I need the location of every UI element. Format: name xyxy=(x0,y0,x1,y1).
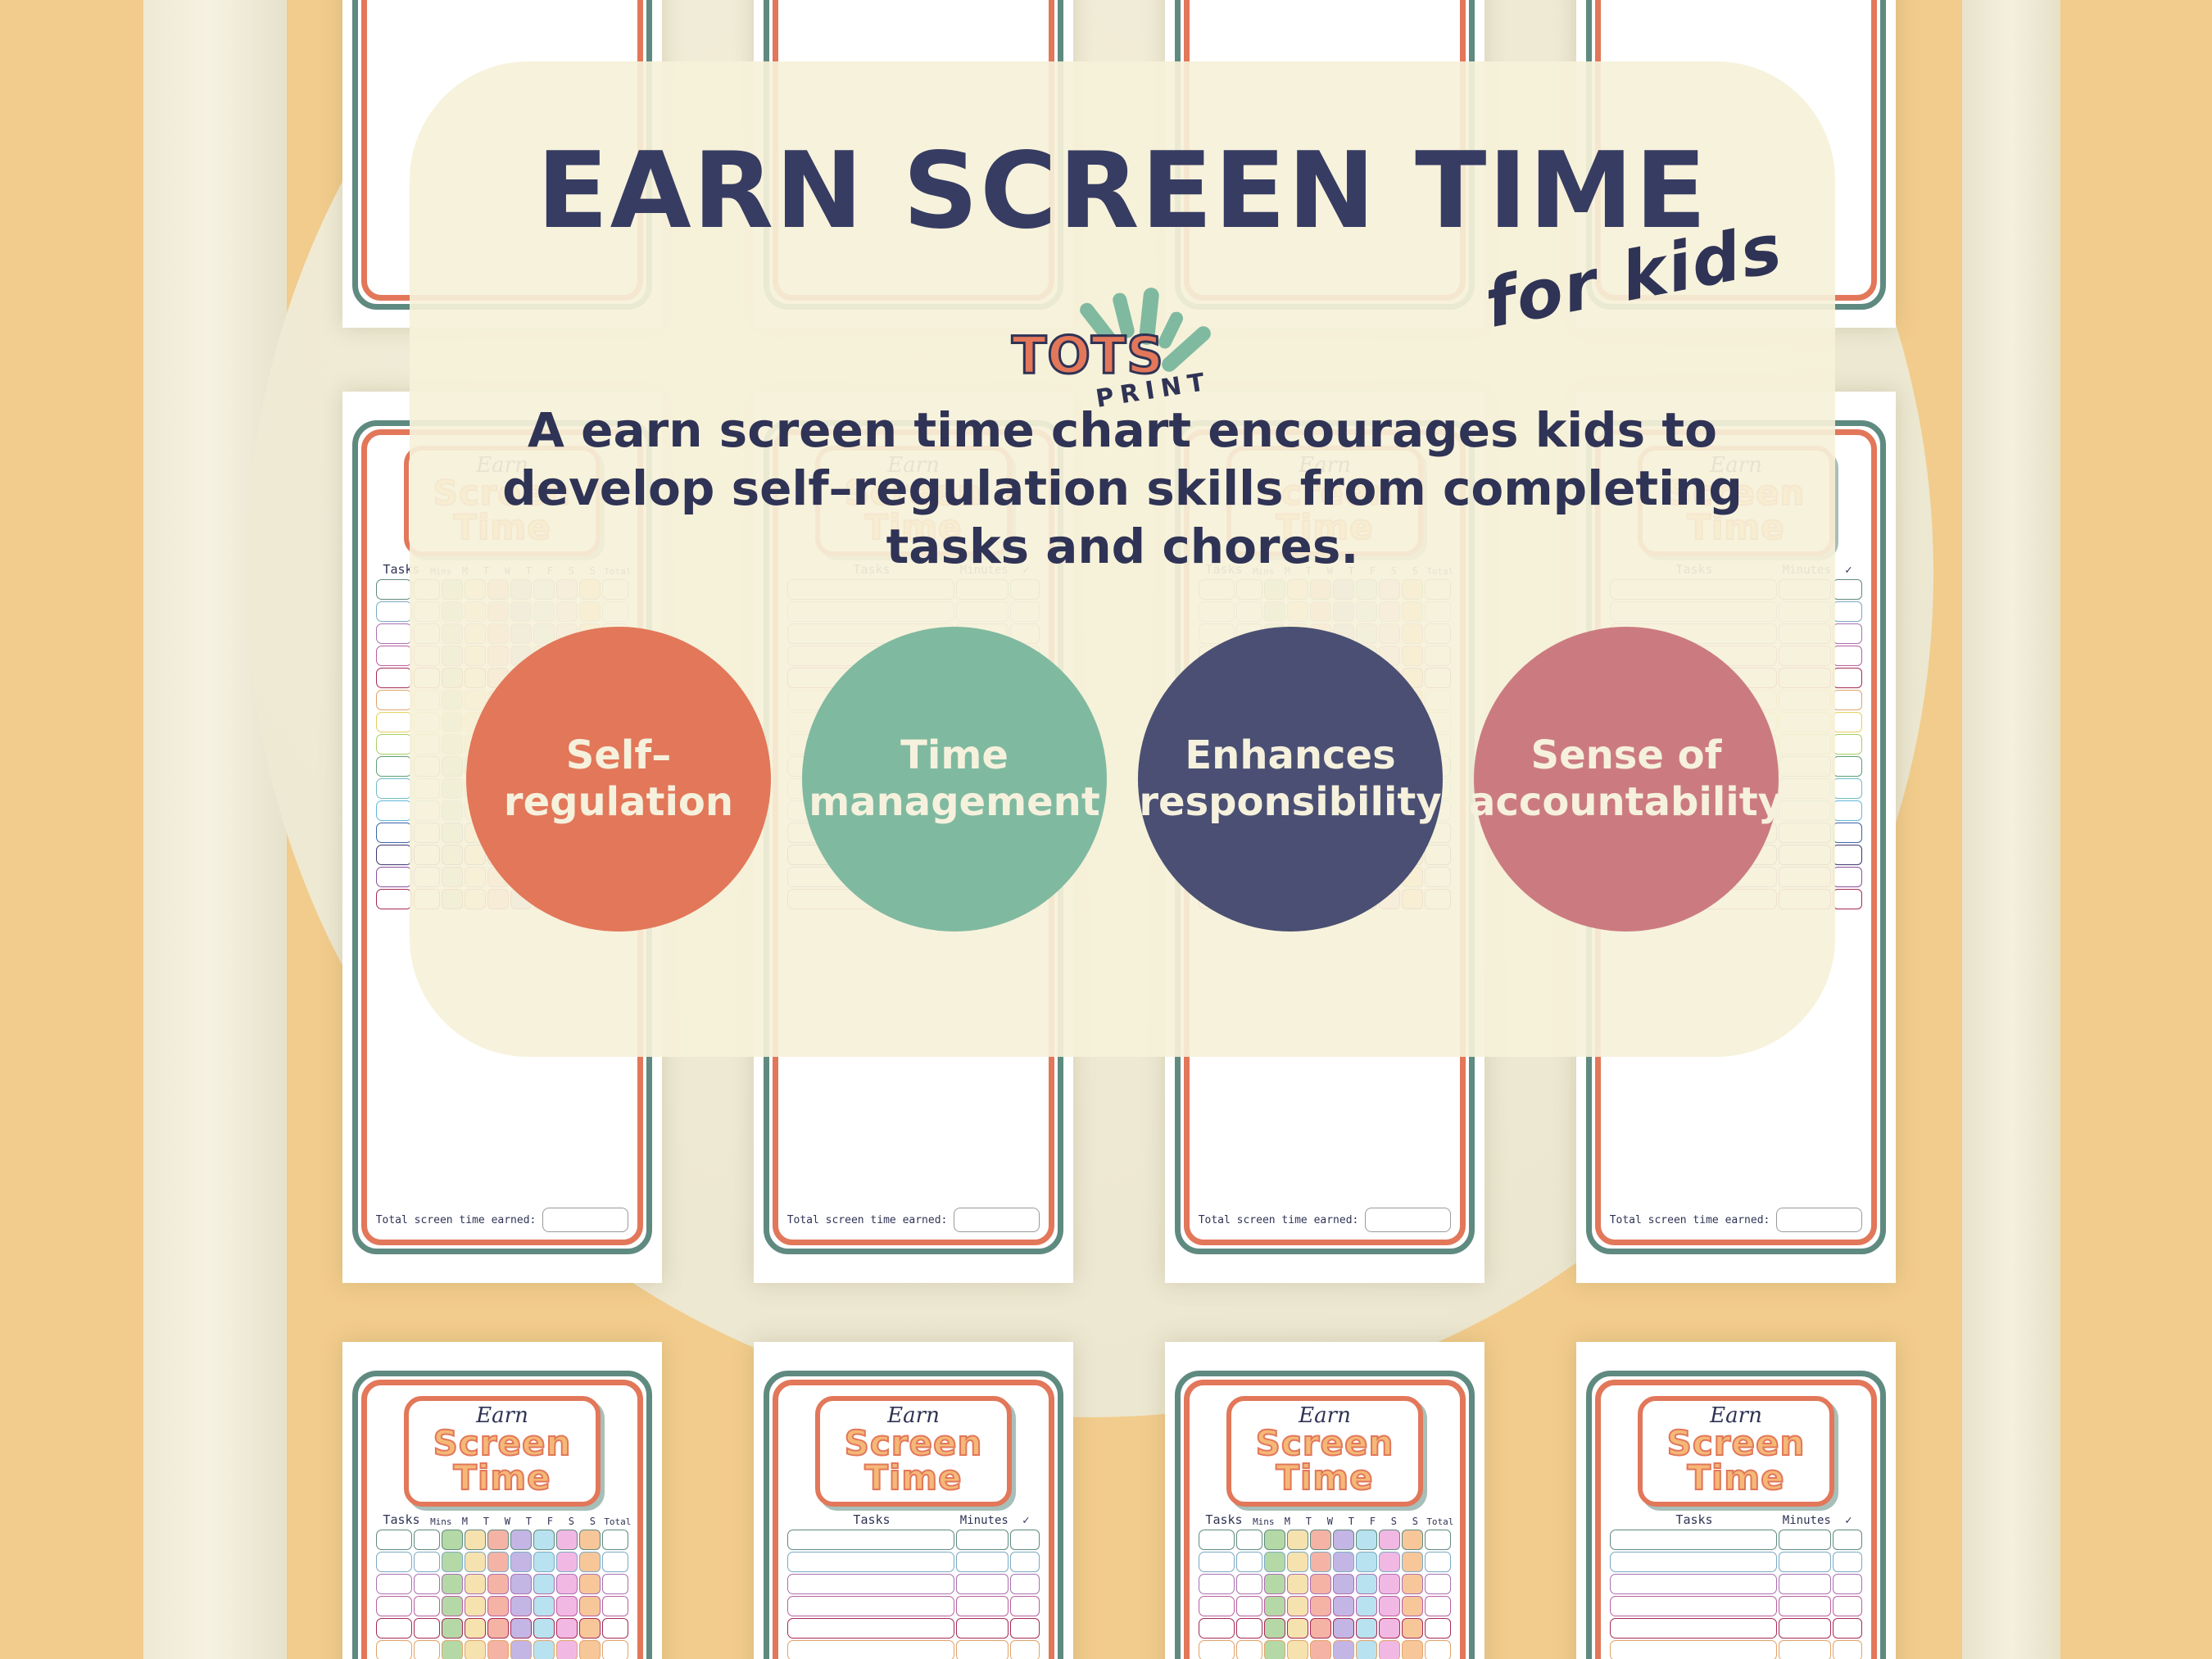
day-check-cell[interactable] xyxy=(465,1596,486,1616)
printable-column-headers: TasksMinsMTWTFSSTotal xyxy=(376,1512,629,1527)
minutes-input-box[interactable] xyxy=(956,1640,1009,1659)
column-header: S xyxy=(1405,1516,1425,1527)
printable-column-headers: TasksMinutes✓ xyxy=(787,1512,1040,1527)
minutes-input-box[interactable] xyxy=(1779,1530,1831,1550)
checkmark-box[interactable] xyxy=(1833,1552,1862,1572)
day-check-cell[interactable] xyxy=(1264,1574,1285,1594)
task-input-box[interactable] xyxy=(376,778,413,799)
task-input-box[interactable] xyxy=(1199,1596,1235,1616)
minutes-input-box[interactable] xyxy=(1236,1552,1262,1572)
printable-column-headers: TasksMinutes✓ xyxy=(1610,1512,1863,1527)
row-total-box[interactable] xyxy=(602,1640,628,1659)
day-check-cell[interactable] xyxy=(1379,1574,1400,1594)
day-check-cell[interactable] xyxy=(1333,1618,1354,1639)
day-check-cell[interactable] xyxy=(1333,1552,1354,1572)
day-check-cell[interactable] xyxy=(1287,1552,1308,1572)
minutes-input-box[interactable] xyxy=(956,1530,1009,1550)
task-input-box[interactable] xyxy=(376,1552,413,1572)
day-check-cell[interactable] xyxy=(579,1618,601,1639)
printable-title-bubble: Screen Time xyxy=(823,1426,1004,1495)
printable-total-row: Total screen time earned: xyxy=(1199,1203,1452,1232)
column-header: Total xyxy=(1426,1516,1451,1527)
checkmark-box[interactable] xyxy=(1833,1530,1862,1550)
day-check-cell[interactable] xyxy=(1310,1574,1331,1594)
day-check-cell[interactable] xyxy=(1356,1530,1377,1550)
checkmark-box[interactable] xyxy=(1833,668,1862,688)
day-check-cell[interactable] xyxy=(510,1640,532,1659)
minutes-input-box[interactable] xyxy=(414,1640,440,1659)
day-check-cell[interactable] xyxy=(487,1640,509,1659)
printable-title-bubble: Screen Time xyxy=(412,1426,593,1495)
row-total-box[interactable] xyxy=(1425,1574,1451,1594)
day-check-cell[interactable] xyxy=(579,1640,601,1659)
printable-title-bubble: Screen Time xyxy=(1235,1426,1416,1495)
column-header: M xyxy=(455,1516,474,1527)
minutes-input-box[interactable] xyxy=(956,1596,1009,1616)
benefit-bubble: Self– regulation xyxy=(466,627,771,931)
task-input-box[interactable] xyxy=(1610,1574,1778,1594)
day-check-cell[interactable] xyxy=(1287,1618,1308,1639)
minutes-input-box[interactable] xyxy=(1236,1640,1262,1659)
task-input-box[interactable] xyxy=(376,668,413,688)
checkmark-box[interactable] xyxy=(1833,845,1862,865)
printable-task-row xyxy=(376,1574,629,1594)
day-check-cell[interactable] xyxy=(533,1530,555,1550)
checkmark-box[interactable] xyxy=(1010,1618,1040,1639)
total-label: Total screen time earned: xyxy=(1610,1214,1770,1226)
minutes-input-box[interactable] xyxy=(956,1618,1009,1639)
poster-canvas: EarnScreen TimeTasksMinsMTWTFSSTotalTota… xyxy=(0,0,2212,1659)
task-input-box[interactable] xyxy=(376,579,413,600)
printable-task-row xyxy=(376,1618,629,1639)
column-header: Total xyxy=(604,1516,628,1527)
day-check-cell[interactable] xyxy=(1379,1618,1400,1639)
benefit-bubble: Enhances responsibility xyxy=(1138,627,1443,931)
checkmark-box[interactable] xyxy=(1833,1640,1862,1659)
column-header: T xyxy=(476,1516,496,1527)
day-check-cell[interactable] xyxy=(1287,1640,1308,1659)
day-check-cell[interactable] xyxy=(1264,1596,1285,1616)
task-input-box[interactable] xyxy=(376,1618,413,1639)
minutes-input-box[interactable] xyxy=(1236,1530,1262,1550)
row-total-box[interactable] xyxy=(602,1552,628,1572)
day-check-cell[interactable] xyxy=(465,1618,486,1639)
printable-task-row xyxy=(787,1574,1040,1594)
column-header: Mins xyxy=(428,1516,453,1527)
row-total-box[interactable] xyxy=(602,1596,628,1616)
total-label: Total screen time earned: xyxy=(787,1214,948,1226)
column-header: W xyxy=(1320,1516,1339,1527)
printable-title-plate: EarnScreen Time xyxy=(404,1396,601,1507)
column-header: ✓ xyxy=(1834,564,1862,577)
day-check-cell[interactable] xyxy=(1333,1574,1354,1594)
printable-sheet: EarnScreen TimeTasksMinsMTWTFSSTotalTota… xyxy=(1165,1342,1484,1659)
day-check-cell[interactable] xyxy=(510,1530,532,1550)
benefit-bubble: Time management xyxy=(802,627,1107,931)
day-check-cell[interactable] xyxy=(1402,1596,1423,1616)
checkmark-box[interactable] xyxy=(1833,867,1862,887)
printable-task-row xyxy=(787,1618,1040,1639)
task-input-box[interactable] xyxy=(1199,1618,1235,1639)
day-check-cell[interactable] xyxy=(510,1552,532,1572)
logo-tots-text: TOTS xyxy=(1012,325,1164,385)
task-input-box[interactable] xyxy=(787,1552,955,1572)
day-check-cell[interactable] xyxy=(1402,1552,1423,1572)
printable-sheet-frame: EarnScreen TimeTasksMinsMTWTFSSTotalTota… xyxy=(1175,1371,1475,1659)
day-check-cell[interactable] xyxy=(487,1618,509,1639)
task-input-box[interactable] xyxy=(787,1618,955,1639)
day-check-cell[interactable] xyxy=(579,1530,601,1550)
checkmark-box[interactable] xyxy=(1833,579,1862,600)
day-check-cell[interactable] xyxy=(1356,1574,1377,1594)
day-check-cell[interactable] xyxy=(487,1596,509,1616)
column-header: S xyxy=(582,1516,602,1527)
column-header: Tasks xyxy=(1199,1512,1250,1527)
task-input-box[interactable] xyxy=(1199,1530,1235,1550)
day-check-cell[interactable] xyxy=(442,1596,463,1616)
row-total-box[interactable] xyxy=(1425,1596,1451,1616)
checkmark-box[interactable] xyxy=(1833,756,1862,777)
day-check-cell[interactable] xyxy=(579,1552,601,1572)
task-input-box[interactable] xyxy=(376,823,413,843)
column-header: W xyxy=(497,1516,517,1527)
day-check-cell[interactable] xyxy=(442,1530,463,1550)
column-header: S xyxy=(561,1516,581,1527)
printable-title-plate: EarnScreen Time xyxy=(815,1396,1013,1507)
column-header: T xyxy=(1341,1516,1361,1527)
day-check-cell[interactable] xyxy=(1264,1530,1285,1550)
checkmark-box[interactable] xyxy=(1833,1574,1862,1594)
day-check-cell[interactable] xyxy=(1264,1618,1285,1639)
task-input-box[interactable] xyxy=(376,690,413,710)
day-check-cell[interactable] xyxy=(1356,1618,1377,1639)
printable-sheet: EarnScreen TimeTasksMinutes✓Total screen… xyxy=(754,1342,1073,1659)
day-check-cell[interactable] xyxy=(442,1552,463,1572)
day-check-cell[interactable] xyxy=(533,1640,555,1659)
day-check-cell[interactable] xyxy=(1333,1530,1354,1550)
day-check-cell[interactable] xyxy=(533,1596,555,1616)
day-check-cell[interactable] xyxy=(1310,1618,1331,1639)
day-check-cell[interactable] xyxy=(1310,1596,1331,1616)
total-input-box[interactable] xyxy=(542,1208,628,1232)
checkmark-box[interactable] xyxy=(1010,1596,1040,1616)
minutes-input-box[interactable] xyxy=(956,1552,1009,1572)
task-input-box[interactable] xyxy=(376,623,413,644)
column-header: ✓ xyxy=(1834,1514,1862,1527)
day-check-cell[interactable] xyxy=(1379,1596,1400,1616)
printable-task-row xyxy=(1610,1530,1863,1550)
day-check-cell[interactable] xyxy=(1402,1618,1423,1639)
task-input-box[interactable] xyxy=(376,756,413,777)
checkmark-box[interactable] xyxy=(1833,889,1862,909)
checkmark-box[interactable] xyxy=(1833,690,1862,710)
minutes-input-box[interactable] xyxy=(1779,1552,1831,1572)
day-check-cell[interactable] xyxy=(1310,1552,1331,1572)
checkmark-box[interactable] xyxy=(1833,1618,1862,1639)
checkmark-box[interactable] xyxy=(1833,601,1862,622)
printable-total-row: Total screen time earned: xyxy=(376,1203,629,1232)
printable-task-row xyxy=(787,1552,1040,1572)
task-input-box[interactable] xyxy=(1610,1596,1778,1616)
task-input-box[interactable] xyxy=(1610,1640,1778,1659)
day-check-cell[interactable] xyxy=(1379,1552,1400,1572)
total-label: Total screen time earned: xyxy=(1199,1214,1359,1226)
checkmark-box[interactable] xyxy=(1010,1574,1040,1594)
day-check-cell[interactable] xyxy=(1310,1640,1331,1659)
day-check-cell[interactable] xyxy=(1264,1640,1285,1659)
checkmark-box[interactable] xyxy=(1833,623,1862,644)
column-header: Minutes xyxy=(959,1514,1009,1527)
printable-sheet: EarnScreen TimeTasksMinsMTWTFSSTotalTota… xyxy=(342,1342,662,1659)
day-check-cell[interactable] xyxy=(579,1596,601,1616)
column-header: Tasks xyxy=(787,1512,957,1527)
column-header: Minutes xyxy=(1781,1514,1832,1527)
task-input-box[interactable] xyxy=(376,800,413,821)
day-check-cell[interactable] xyxy=(1287,1596,1308,1616)
task-input-box[interactable] xyxy=(376,646,413,666)
minutes-input-box[interactable] xyxy=(414,1530,440,1550)
task-input-box[interactable] xyxy=(1199,1552,1235,1572)
task-input-box[interactable] xyxy=(1199,1640,1235,1659)
task-input-box[interactable] xyxy=(376,712,413,732)
task-input-box[interactable] xyxy=(376,601,413,622)
printable-sheet-frame: EarnScreen TimeTasksMinsMTWTFSSTotalTota… xyxy=(352,1371,653,1659)
background-band-right xyxy=(1962,0,2060,1659)
checkmark-box[interactable] xyxy=(1833,800,1862,821)
task-input-box[interactable] xyxy=(787,1530,955,1550)
checkmark-box[interactable] xyxy=(1833,823,1862,843)
column-header: Tasks xyxy=(376,1512,428,1527)
day-check-cell[interactable] xyxy=(465,1640,486,1659)
printable-sheet-frame: EarnScreen TimeTasksMinutes✓Total screen… xyxy=(1586,1371,1887,1659)
brand-logo: TOTS PRINT xyxy=(1004,291,1241,414)
minutes-input-box[interactable] xyxy=(1236,1618,1262,1639)
benefit-bubbles: Self– regulation Time management Enhance… xyxy=(410,627,1835,931)
day-check-cell[interactable] xyxy=(487,1552,509,1572)
day-check-cell[interactable] xyxy=(442,1618,463,1639)
minutes-input-box[interactable] xyxy=(414,1574,440,1594)
total-label: Total screen time earned: xyxy=(376,1214,537,1226)
task-input-box[interactable] xyxy=(787,1574,955,1594)
day-check-cell[interactable] xyxy=(442,1574,463,1594)
day-check-cell[interactable] xyxy=(1310,1530,1331,1550)
printable-total-row: Total screen time earned: xyxy=(1610,1203,1863,1232)
checkmark-box[interactable] xyxy=(1010,1640,1040,1659)
day-check-cell[interactable] xyxy=(1356,1596,1377,1616)
day-check-cell[interactable] xyxy=(442,1640,463,1659)
column-header: ✓ xyxy=(1012,1514,1040,1527)
day-check-cell[interactable] xyxy=(556,1574,578,1594)
minutes-input-box[interactable] xyxy=(1779,1574,1831,1594)
printable-sheet-frame: EarnScreen TimeTasksMinutes✓Total screen… xyxy=(764,1371,1064,1659)
task-input-box[interactable] xyxy=(376,889,413,909)
day-check-cell[interactable] xyxy=(556,1530,578,1550)
printable-task-row xyxy=(1199,1574,1452,1594)
checkmark-box[interactable] xyxy=(1833,734,1862,755)
printable-column-headers: TasksMinsMTWTFSSTotal xyxy=(1199,1512,1452,1527)
column-header: S xyxy=(1384,1516,1403,1527)
content-overlay-panel: EARN SCREEN TIME for kids TOTS PRINT A e… xyxy=(410,61,1835,1057)
day-check-cell[interactable] xyxy=(1333,1596,1354,1616)
column-header: F xyxy=(540,1516,560,1527)
row-total-box[interactable] xyxy=(602,1574,628,1594)
minutes-input-box[interactable] xyxy=(1236,1574,1262,1594)
checkmark-box[interactable] xyxy=(1010,1530,1040,1550)
column-header: Tasks xyxy=(1610,1512,1779,1527)
printable-task-row xyxy=(1199,1596,1452,1616)
background-band-left xyxy=(143,0,287,1659)
task-input-box[interactable] xyxy=(376,1574,413,1594)
printable-task-row xyxy=(1610,1640,1863,1659)
task-input-box[interactable] xyxy=(1199,1574,1235,1594)
minutes-input-box[interactable] xyxy=(1236,1596,1262,1616)
printable-title-plate: EarnScreen Time xyxy=(1638,1396,1835,1507)
page-title: EARN SCREEN TIME xyxy=(410,139,1835,244)
row-total-box[interactable] xyxy=(1425,1552,1451,1572)
column-header: T xyxy=(1299,1516,1318,1527)
day-check-cell[interactable] xyxy=(533,1552,555,1572)
minutes-input-box[interactable] xyxy=(414,1596,440,1616)
total-input-box[interactable] xyxy=(954,1208,1040,1232)
day-check-cell[interactable] xyxy=(1356,1640,1377,1659)
task-input-box[interactable] xyxy=(376,1640,413,1659)
printable-task-row xyxy=(1610,1552,1863,1572)
printable-task-row xyxy=(787,1640,1040,1659)
checkmark-box[interactable] xyxy=(1833,778,1862,799)
minutes-input-box[interactable] xyxy=(956,1574,1009,1594)
checkmark-box[interactable] xyxy=(1833,646,1862,666)
day-check-cell[interactable] xyxy=(465,1574,486,1594)
printable-task-row xyxy=(787,1530,1040,1550)
task-input-box[interactable] xyxy=(1610,1618,1778,1639)
day-check-cell[interactable] xyxy=(1402,1640,1423,1659)
task-input-box[interactable] xyxy=(376,1596,413,1616)
minutes-input-box[interactable] xyxy=(1779,1640,1831,1659)
day-check-cell[interactable] xyxy=(487,1530,509,1550)
printable-task-row xyxy=(1199,1640,1452,1659)
description-text: A earn screen time chart encourages kids… xyxy=(459,401,1786,575)
row-total-box[interactable] xyxy=(1425,1618,1451,1639)
printable-task-row xyxy=(1610,1618,1863,1639)
task-input-box[interactable] xyxy=(787,1640,955,1659)
printable-task-row xyxy=(1610,1596,1863,1616)
day-check-cell[interactable] xyxy=(510,1596,532,1616)
printable-task-row xyxy=(1199,1530,1452,1550)
printable-title-bubble: Screen Time xyxy=(1646,1426,1827,1495)
benefit-bubble: Sense of accountability xyxy=(1474,627,1779,931)
printable-sheet: EarnScreen TimeTasksMinutes✓Total screen… xyxy=(1576,1342,1896,1659)
printable-task-row xyxy=(376,1596,629,1616)
column-header: F xyxy=(1362,1516,1382,1527)
task-input-box[interactable] xyxy=(1610,1552,1778,1572)
checkmark-box[interactable] xyxy=(1833,1596,1862,1616)
day-check-cell[interactable] xyxy=(510,1574,532,1594)
printable-task-row xyxy=(376,1552,629,1572)
total-input-box[interactable] xyxy=(1776,1208,1862,1232)
day-check-cell[interactable] xyxy=(510,1618,532,1639)
row-total-box[interactable] xyxy=(1425,1640,1451,1659)
printable-task-row xyxy=(376,1640,629,1659)
day-check-cell[interactable] xyxy=(465,1552,486,1572)
day-check-cell[interactable] xyxy=(1379,1640,1400,1659)
task-input-box[interactable] xyxy=(376,845,413,865)
day-check-cell[interactable] xyxy=(1287,1574,1308,1594)
day-check-cell[interactable] xyxy=(533,1574,555,1594)
day-check-cell[interactable] xyxy=(556,1618,578,1639)
minutes-input-box[interactable] xyxy=(1779,1596,1831,1616)
minutes-input-box[interactable] xyxy=(1779,1618,1831,1639)
day-check-cell[interactable] xyxy=(1402,1530,1423,1550)
day-check-cell[interactable] xyxy=(556,1596,578,1616)
column-header: M xyxy=(1277,1516,1297,1527)
day-check-cell[interactable] xyxy=(1379,1530,1400,1550)
day-check-cell[interactable] xyxy=(1333,1640,1354,1659)
day-check-cell[interactable] xyxy=(556,1552,578,1572)
row-total-box[interactable] xyxy=(602,1530,628,1550)
printable-task-row xyxy=(787,1596,1040,1616)
total-input-box[interactable] xyxy=(1365,1208,1451,1232)
task-input-box[interactable] xyxy=(376,867,413,887)
day-check-cell[interactable] xyxy=(533,1618,555,1639)
minutes-input-box[interactable] xyxy=(414,1618,440,1639)
printable-task-row xyxy=(1199,1618,1452,1639)
day-check-cell[interactable] xyxy=(1287,1530,1308,1550)
day-check-cell[interactable] xyxy=(556,1640,578,1659)
printable-total-row: Total screen time earned: xyxy=(787,1203,1040,1232)
row-total-box[interactable] xyxy=(602,1618,628,1639)
task-input-box[interactable] xyxy=(1610,1530,1778,1550)
task-input-box[interactable] xyxy=(376,734,413,755)
column-header: Mins xyxy=(1251,1516,1276,1527)
row-total-box[interactable] xyxy=(1425,1530,1451,1550)
printable-task-row xyxy=(1199,1552,1452,1572)
day-check-cell[interactable] xyxy=(487,1574,509,1594)
day-check-cell[interactable] xyxy=(1264,1552,1285,1572)
printable-title-plate: EarnScreen Time xyxy=(1226,1396,1424,1507)
task-input-box[interactable] xyxy=(787,1596,955,1616)
day-check-cell[interactable] xyxy=(579,1574,601,1594)
printable-task-row xyxy=(376,1530,629,1550)
day-check-cell[interactable] xyxy=(465,1530,486,1550)
column-header: T xyxy=(519,1516,538,1527)
checkmark-box[interactable] xyxy=(1010,1552,1040,1572)
day-check-cell[interactable] xyxy=(1402,1574,1423,1594)
checkmark-box[interactable] xyxy=(1833,712,1862,732)
printable-task-row xyxy=(1610,1574,1863,1594)
day-check-cell[interactable] xyxy=(1356,1552,1377,1572)
task-input-box[interactable] xyxy=(376,1530,413,1550)
minutes-input-box[interactable] xyxy=(414,1552,440,1572)
